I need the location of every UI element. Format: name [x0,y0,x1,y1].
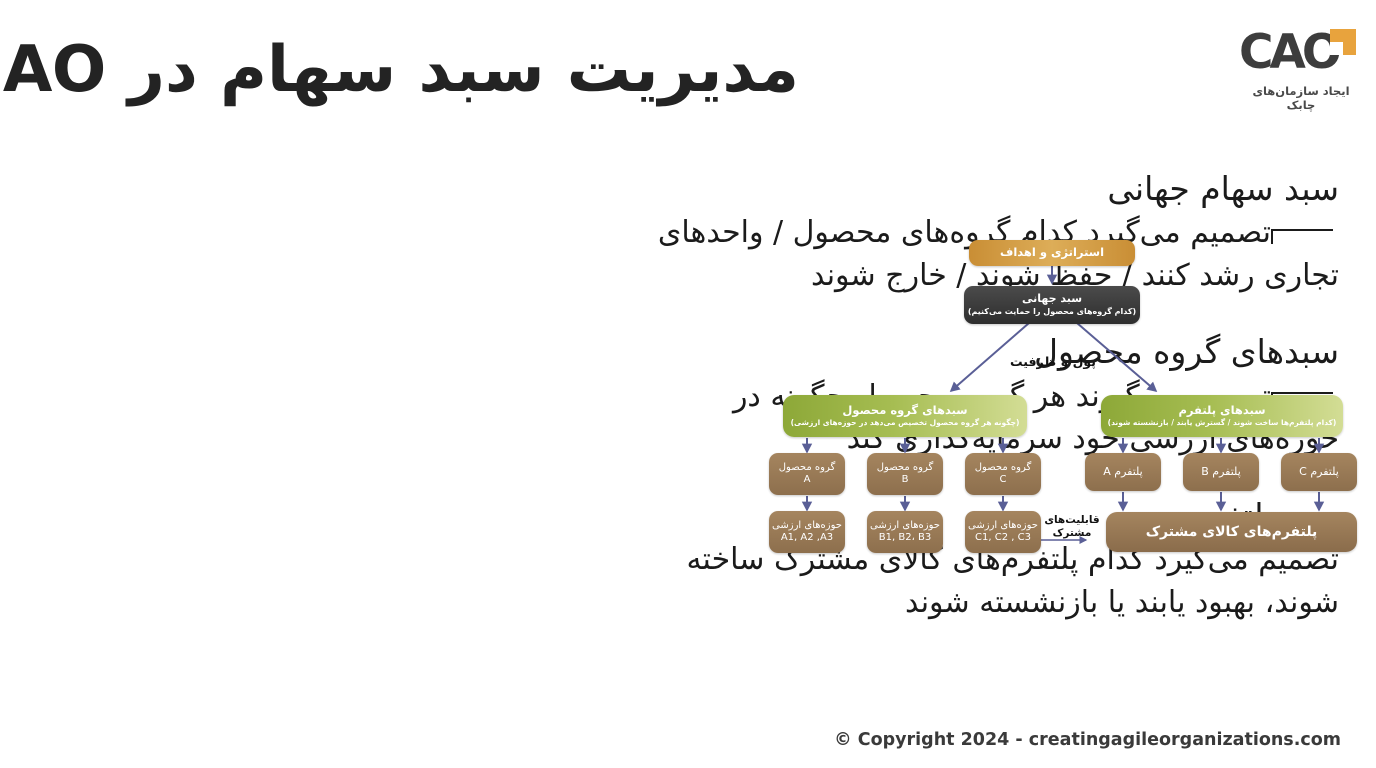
logo-mark-icon: CAO [1238,26,1366,80]
diagram-box-title: سبد جهانی [1023,293,1083,306]
diagram-box-title: پلتفرم B [1202,466,1242,479]
diagram-box-subtitle: (کدام پلتفرم‌ها ساخت شوند / گسترش یابند … [1109,419,1338,428]
diagram-box-title: پلتفرم A [1104,466,1144,479]
diagram-box-code: C1, C2 , C3 [976,532,1032,544]
diagram-box-product-group-b: گروه محصول B [868,453,944,495]
diagram-box-title: حوزه‌های ارزشی [871,520,941,532]
diagram-box-title: استراتژی و اهداف [1001,246,1105,260]
diagram-label-shared-capabilities: قابلیت‌های مشترک [1039,514,1107,539]
diagram-box-value-areas-a: حوزه‌های ارزشی A1, A2 ,A3 [770,511,846,553]
diagram-box-product-group-a: گروه محصول A [770,453,846,495]
diagram-box-value-areas-c: حوزه‌های ارزشی C1, C2 , C3 [966,511,1042,553]
diagram-box-title: سبدهای پلتفرم [1179,404,1266,418]
diagram-box-code: A1, A2 ,A3 [782,532,834,544]
portfolio-hierarchy-diagram: استراتژی و اهداف سبد جهانی (کدام گروه‌ها… [762,238,1362,583]
diagram-box-title: پلتفرم‌های کالای مشترک [1147,524,1319,541]
diagram-box-platform-b: پلتفرم B [1184,453,1260,491]
diagram-box-product-group-portfolios: سبدهای گروه محصول (چگونه هر گروه محصول ت… [784,395,1028,437]
diagram-box-title: گروه محصول [878,462,934,474]
diagram-box-code: B [903,474,910,486]
diagram-box-title: حوزه‌های ارزشی [773,520,843,532]
diagram-box-code: C [1001,474,1008,486]
diagram-box-global-portfolio: سبد جهانی (کدام گروه‌های محصول را حمایت … [965,286,1141,324]
page-title: مدیریت سبد سهام در CAO [60,34,800,108]
diagram-box-shared-goods-platforms: پلتفرم‌های کالای مشترک [1107,512,1358,552]
diagram-box-title: گروه محصول [780,462,836,474]
diagram-box-subtitle: (کدام گروه‌های محصول را حمایت می‌کنیم) [969,307,1137,316]
diagram-label-money-capacity: پول و ظرفیت [999,354,1109,369]
diagram-box-title: حوزه‌های ارزشی [969,520,1039,532]
diagram-box-strategy: استراتژی و اهداف [970,240,1136,266]
diagram-box-title: سبدهای گروه محصول [843,404,968,418]
diagram-box-product-group-c: گروه محصول C [966,453,1042,495]
diagram-box-title: پلتفرم C [1300,466,1340,479]
cao-logo: CAO ایجاد سازمان‌های چابک [1238,26,1366,112]
logo-accent-notch-icon [1331,42,1344,55]
diagram-box-code: A [805,474,812,486]
block-heading: سبد سهام جهانی [628,168,1340,210]
diagram-box-value-areas-b: حوزه‌های ارزشی B1, B2، B3 [868,511,944,553]
logo-letters: CAO [1240,26,1339,80]
diagram-box-platform-a: پلتفرم A [1086,453,1162,491]
logo-tagline: ایجاد سازمان‌های چابک [1238,84,1366,112]
diagram-box-platform-portfolios: سبدهای پلتفرم (کدام پلتفرم‌ها ساخت شوند … [1102,395,1344,437]
diagram-box-platform-c: پلتفرم C [1282,453,1358,491]
diagram-box-title: گروه محصول [976,462,1032,474]
diagram-box-code: B1, B2، B3 [880,532,932,544]
diagram-box-subtitle: (چگونه هر گروه محصول تخصیص می‌دهد در حوز… [792,419,1021,428]
footer-copyright: © Copyright 2024 - creatingagileorganiza… [835,730,1342,750]
